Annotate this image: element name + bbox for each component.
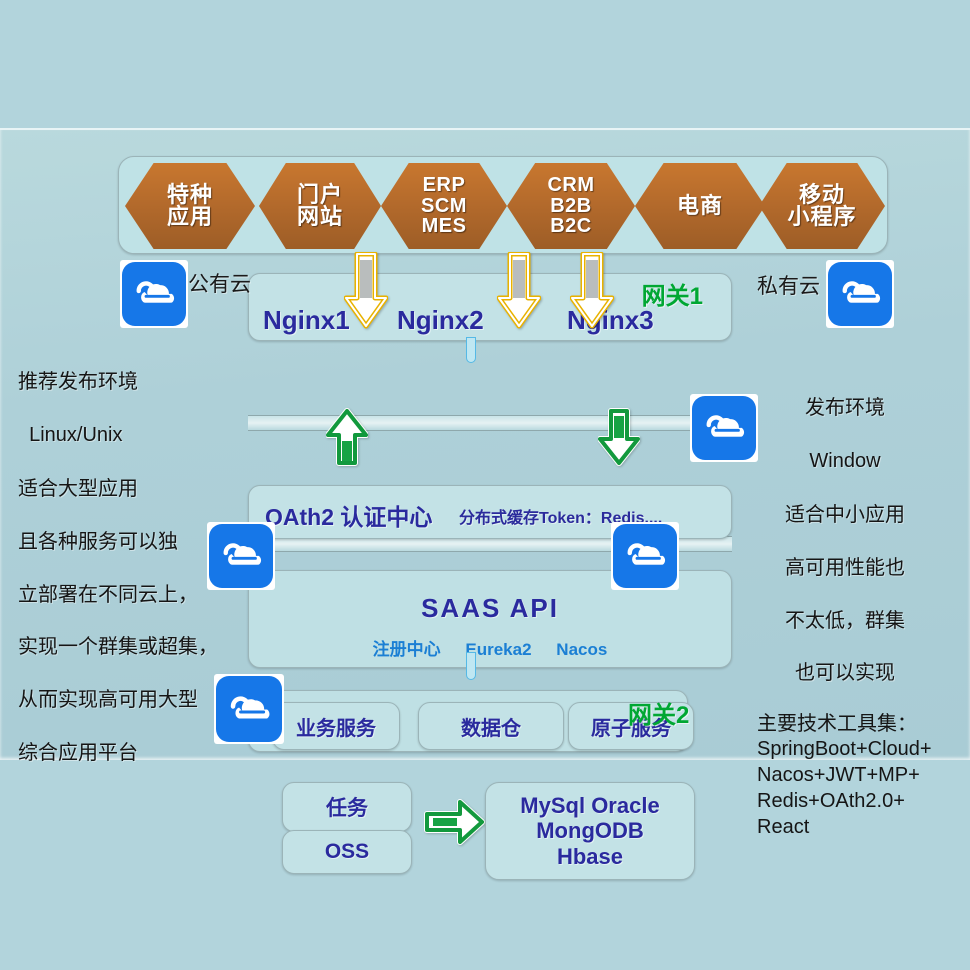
hex-line: CRM bbox=[547, 175, 594, 195]
database-line: MySql Oracle bbox=[520, 793, 659, 819]
public-cloud-label: 公有云 bbox=[188, 268, 251, 298]
architecture-diagram-panel: 特种应用 门户网站 ERPSCMMES CRMB2BB2C 电商 移动小程序 N… bbox=[0, 128, 970, 760]
nginx2-label[interactable]: Nginx2 bbox=[397, 305, 484, 336]
registry-nacos: Nacos bbox=[556, 640, 607, 659]
left-note-line: 实现一个群集或超集， bbox=[18, 634, 218, 658]
hex-line: ERP bbox=[421, 175, 467, 195]
arrow-down-icon bbox=[344, 252, 388, 330]
right-note-line: 发布环境 bbox=[805, 395, 885, 419]
left-note-line: 立部署在不同云上， bbox=[18, 582, 198, 606]
cloud-glyph bbox=[621, 538, 670, 574]
hex-line: B2C bbox=[547, 216, 594, 236]
left-note-line: 推荐发布环境 bbox=[18, 369, 138, 393]
cloud-icon[interactable] bbox=[611, 522, 679, 590]
oss-label: OSS bbox=[283, 831, 411, 873]
arrow-down-icon bbox=[497, 252, 541, 330]
arrow-down-icon bbox=[570, 252, 614, 330]
cloud-glyph bbox=[224, 691, 274, 728]
right-note-line: 高可用性能也 bbox=[785, 555, 905, 579]
database-box[interactable]: MySql Oracle MongODB Hbase bbox=[485, 782, 695, 880]
left-note-line: 适合大型应用 bbox=[18, 476, 138, 500]
database-line: Hbase bbox=[557, 844, 623, 870]
left-note: 推荐发布环境 Linux/Unix 适合大型应用 且各种服务可以独 立部署在不同… bbox=[18, 342, 218, 792]
gateway1-layer: Nginx1 Nginx2 Nginx3 网关1 bbox=[248, 273, 732, 341]
right-note: 发布环境 Window 适合中小应用 高可用性能也 不太低，群集 也可以实现 bbox=[760, 368, 930, 712]
service-box-label: 业务服务 bbox=[296, 712, 376, 741]
saas-api-title: SAAS API bbox=[249, 593, 731, 624]
hex-line: 网站 bbox=[297, 206, 343, 228]
registry-row: 注册中心 Eureka2 Nacos bbox=[249, 635, 731, 660]
cloud-icon[interactable] bbox=[120, 260, 188, 328]
hex-line: 特种 bbox=[167, 184, 213, 206]
cloud-icon[interactable] bbox=[690, 394, 758, 462]
tools-line: Nacos+JWT+MP+ bbox=[757, 762, 932, 788]
tools-line: React bbox=[757, 814, 932, 840]
database-list: MySql Oracle MongODB Hbase bbox=[486, 783, 694, 879]
right-note-line: Window bbox=[809, 450, 880, 472]
service-box-label: 数据仓 bbox=[461, 712, 521, 741]
arrow-up-icon bbox=[326, 408, 368, 466]
right-note-line: 适合中小应用 bbox=[785, 502, 905, 526]
cloud-icon[interactable] bbox=[826, 260, 894, 328]
oauth-title: OAth2 认证中心 bbox=[265, 498, 432, 532]
application-layer: 特种应用 门户网站 ERPSCMMES CRMB2BB2C 电商 移动小程序 bbox=[118, 156, 888, 254]
cloud-icon[interactable] bbox=[214, 674, 284, 744]
tools-line: SpringBoot+Cloud+ bbox=[757, 736, 932, 762]
app-hex-ecommerce[interactable]: 电商 bbox=[635, 163, 765, 249]
hex-line: 门户 bbox=[297, 184, 343, 206]
hex-line: 应用 bbox=[167, 206, 213, 228]
cloud-glyph bbox=[700, 410, 749, 446]
tools-heading: 主要技术工具集： bbox=[757, 710, 932, 736]
tools-line: Redis+OAth2.0+ bbox=[757, 788, 932, 814]
connector-saas-to-services bbox=[466, 652, 476, 680]
nginx1-label[interactable]: Nginx1 bbox=[263, 305, 350, 336]
app-hex-crm-b2b-b2c[interactable]: CRMB2BB2C bbox=[507, 163, 635, 249]
arrow-down-icon bbox=[598, 408, 640, 466]
left-note-line: 综合应用平台 bbox=[18, 740, 138, 764]
task-box[interactable]: 任务 bbox=[282, 782, 412, 832]
cloud-glyph bbox=[836, 276, 885, 312]
hex-line: SCM bbox=[421, 196, 467, 216]
left-note-line: Linux/Unix bbox=[18, 424, 123, 446]
database-line: MongODB bbox=[536, 818, 644, 844]
left-note-line: 从而实现高可用大型 bbox=[18, 687, 198, 711]
service-box-business[interactable]: 业务服务 bbox=[272, 702, 400, 750]
hex-line: 移动 bbox=[787, 184, 856, 206]
hex-line: B2B bbox=[547, 196, 594, 216]
gateway2-label: 网关2 bbox=[628, 695, 689, 730]
connector-nginx-to-auth bbox=[466, 337, 476, 363]
task-label: 任务 bbox=[283, 783, 411, 831]
app-hex-portal-website[interactable]: 门户网站 bbox=[259, 163, 381, 249]
right-note-line: 不太低，群集 bbox=[785, 608, 905, 632]
rail-divider bbox=[248, 415, 732, 431]
arrow-right-icon bbox=[424, 798, 486, 846]
cloud-glyph bbox=[217, 538, 266, 574]
hex-line: MES bbox=[421, 216, 467, 236]
tools-note: 主要技术工具集： SpringBoot+Cloud+ Nacos+JWT+MP+… bbox=[757, 710, 932, 840]
app-hex-erp-scm-mes[interactable]: ERPSCMMES bbox=[381, 163, 507, 249]
private-cloud-label: 私有云 bbox=[757, 270, 820, 300]
service-box-data-warehouse[interactable]: 数据仓 bbox=[418, 702, 564, 750]
hex-line: 小程序 bbox=[787, 206, 856, 228]
gateway1-label: 网关1 bbox=[642, 276, 703, 311]
left-note-line: 且各种服务可以独 bbox=[18, 529, 178, 553]
oss-box[interactable]: OSS bbox=[282, 830, 412, 874]
app-hex-special-application[interactable]: 特种应用 bbox=[125, 163, 255, 249]
cloud-glyph bbox=[130, 276, 179, 312]
hex-line: 电商 bbox=[677, 195, 723, 217]
registry-label: 注册中心 bbox=[373, 640, 441, 659]
app-hex-mobile-miniprogram[interactable]: 移动小程序 bbox=[759, 163, 885, 249]
right-note-line: 也可以实现 bbox=[795, 660, 895, 684]
